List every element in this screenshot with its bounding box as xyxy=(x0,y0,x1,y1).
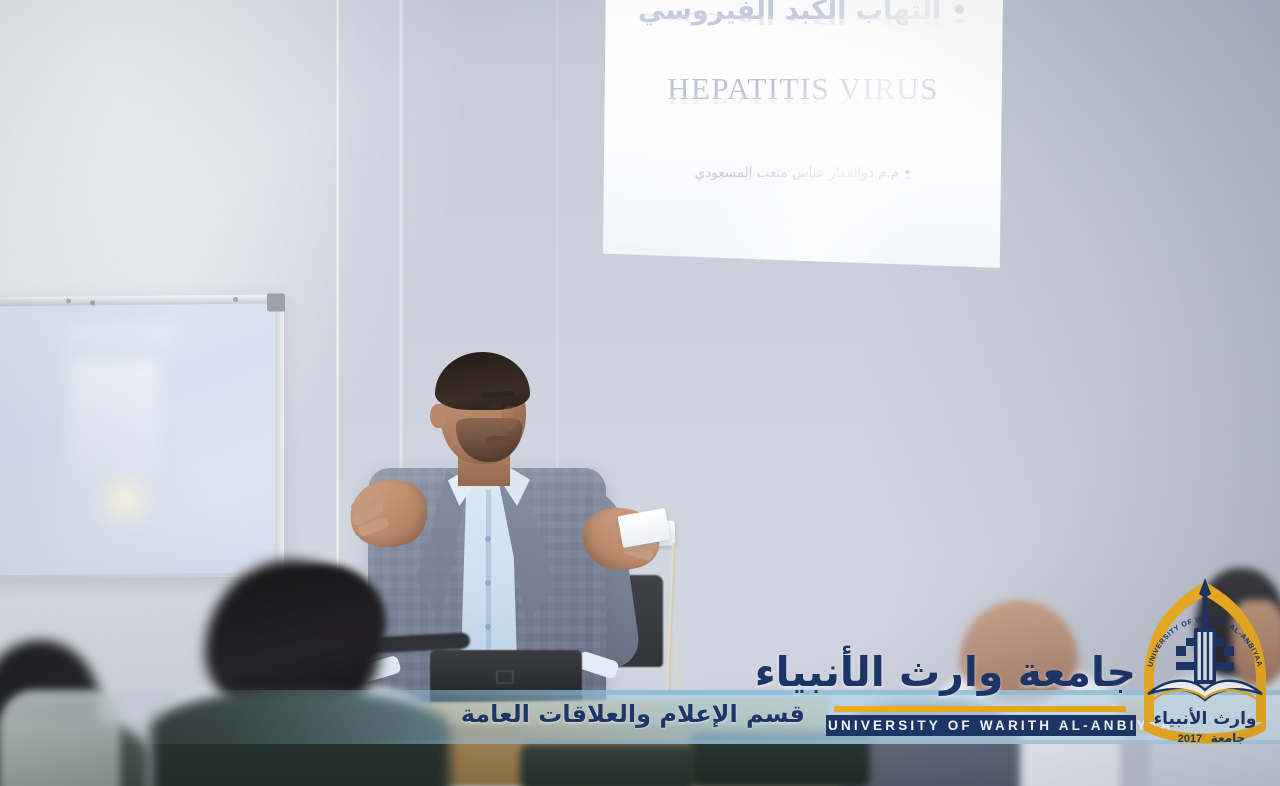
shirt-button xyxy=(485,536,491,542)
whiteboard-pin xyxy=(66,299,71,304)
projection-screen: • التهاب الكبد الفيروسي • التهاب الكبد ا… xyxy=(603,0,1003,275)
lecturer-eye xyxy=(488,402,502,409)
wordmark-english: UNIVERSITY OF WARITH AL-ANBIYAA xyxy=(826,715,1136,736)
slide-english-title-reflection: HEPATITIS VIRUS xyxy=(617,92,989,107)
whiteboard-reflection xyxy=(70,360,160,481)
university-wordmark: جامعة وارث الأنبياء UNIVERSITY OF WARITH… xyxy=(826,648,1136,748)
whiteboard-pin xyxy=(233,297,238,302)
slide-arabic-title-reflection: • التهاب الكبد الفيروسي xyxy=(617,13,989,27)
whiteboard-frame-right xyxy=(275,294,284,576)
university-emblem: UNIVERSITY OF WARITH AL-ANBIYAA وارث الأ… xyxy=(1132,572,1278,750)
seat-back xyxy=(520,744,695,786)
shirt-button xyxy=(485,624,491,630)
wordmark-gold-rule xyxy=(834,706,1126,712)
wordmark-arabic: جامعة وارث الأنبياء xyxy=(826,648,1136,696)
slide-content: • التهاب الكبد الفيروسي • التهاب الكبد ا… xyxy=(603,0,1003,197)
whiteboard-frame-top xyxy=(0,294,284,306)
shirt-button xyxy=(485,580,491,586)
whiteboard-corner-bracket xyxy=(267,293,285,311)
slide-presenter-name-reflection: • م.م ذوالفقار عباس متعب المسعودي xyxy=(617,174,989,181)
whiteboard-light-spot xyxy=(88,468,160,533)
lecturer-mouth xyxy=(486,436,514,447)
emblem-arabic-sub: جامعة xyxy=(1211,731,1246,745)
lecturer-nose xyxy=(502,406,518,430)
laptop-logo xyxy=(496,670,514,684)
lecturer-hair xyxy=(435,352,530,410)
chair-plastic-wrap xyxy=(0,690,120,786)
emblem-arabic-name: وارث الأنبياء xyxy=(1153,708,1256,729)
whiteboard xyxy=(0,294,284,579)
emblem-year: 2017 xyxy=(1178,733,1202,745)
lecture-photo: • التهاب الكبد الفيروسي • التهاب الكبد ا… xyxy=(0,0,1280,786)
whiteboard-reflection xyxy=(66,323,176,364)
lecturer-ear xyxy=(430,404,446,428)
whiteboard-pin xyxy=(90,300,95,305)
department-label: قسم الإعلام والعلاقات العامة xyxy=(405,700,805,728)
